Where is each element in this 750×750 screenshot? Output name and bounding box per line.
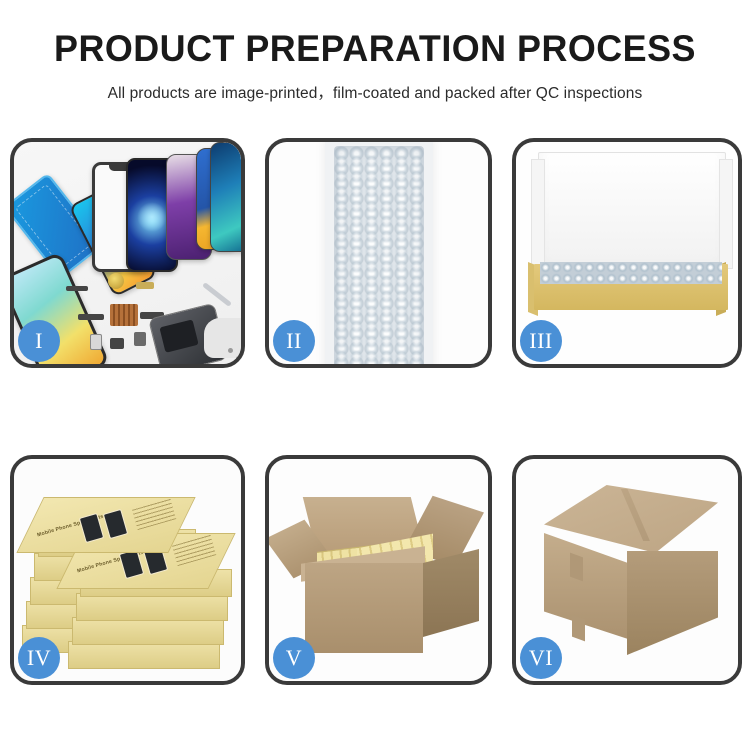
tweezers-icon [202,282,232,307]
page-subtitle: All products are image-printed，film-coat… [0,81,750,103]
speaker-part-icon [110,338,124,349]
step-4-image: Mobile Phone Spare Parts Mobile Phone Sp… [14,459,241,681]
carton-side-face-icon [423,549,479,637]
process-step-panel-1[interactable]: I [10,138,245,368]
step-badge-2: II [273,320,315,362]
screw-icon [228,348,233,353]
step-badge-1: I [18,320,60,362]
process-step-panel-6[interactable]: VI [512,455,742,685]
battery-connector-icon [134,332,146,346]
screw-icon [236,356,241,361]
step-1-image: I [14,142,241,364]
hand-icon [204,318,241,358]
process-step-panel-5[interactable]: V [265,455,492,685]
step-badge-4: IV [18,637,60,679]
flex-cable-icon [78,314,104,320]
gold-component-icon [108,273,124,289]
step-5-image: V [269,459,488,681]
stacked-box-top-icon: Mobile Phone Spare Parts [30,497,186,557]
stacked-box-icon [76,593,228,621]
stacked-box-icon [68,641,220,669]
carton-right-face-icon [627,551,718,655]
carton-front-face-icon [305,563,423,653]
box-lid-icon [538,152,726,278]
process-step-panel-2[interactable]: II [265,138,492,368]
tape-mark-icon [572,615,585,642]
step-6-image: VI [516,459,738,681]
bracket-part-icon [136,282,154,289]
step-badge-3: III [520,320,562,362]
bubble-wrapped-contents-icon [540,262,722,284]
small-part-icon [66,286,88,291]
carton-left-face-icon [544,533,628,639]
step-3-image: III [516,142,738,364]
process-step-grid: I II III [10,138,740,738]
process-step-panel-3[interactable]: III [512,138,742,368]
page-title: PRODUCT PREPARATION PROCESS [11,30,739,67]
copper-shield-icon [110,304,138,326]
step-badge-5: V [273,637,315,679]
tape-mark-icon [570,553,583,582]
step-2-image: II [269,142,488,364]
step-badge-6: VI [520,637,562,679]
page-header: PRODUCT PREPARATION PROCESS All products… [0,0,750,103]
process-step-panel-4[interactable]: Mobile Phone Spare Parts Mobile Phone Sp… [10,455,245,685]
phone-teal-display-icon [210,142,241,252]
bubble-wrap-overlay-icon [334,154,424,365]
stacked-box-icon [72,617,224,645]
camera-module-icon [90,334,102,350]
